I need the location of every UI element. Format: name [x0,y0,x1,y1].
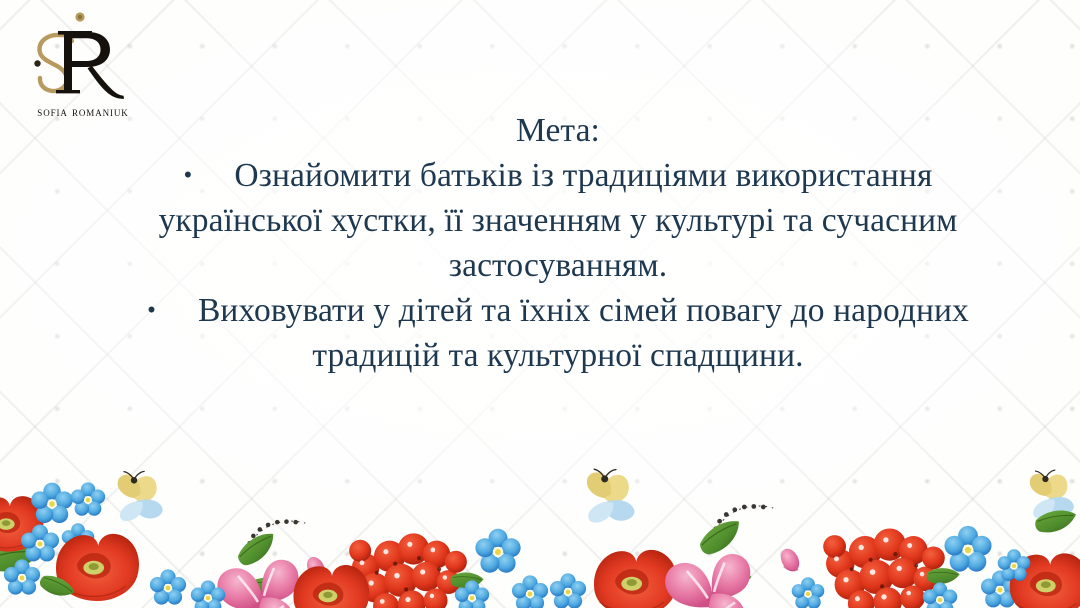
floral-group-left [0,467,186,606]
bullet-item-1: •Ознайомити батьків із традиціями викори… [108,153,1008,288]
floral-group-left-center [191,519,329,608]
bullet-text-2: Виховувати у дітей та їхніх сімей повагу… [198,292,969,374]
floral-group-berries-left [293,529,548,608]
bullet-glyph-2: • [147,297,156,324]
bullet-item-2: •Виховувати у дітей та їхніх сімей поваг… [108,288,1008,378]
slide-heading: Мета: [108,108,1008,153]
slide-text-block: Мета: •Ознайомити батьків із традиціями … [108,108,1008,378]
slide-canvas: Sofia Romaniuk Мета: •Ознайомити батьків… [0,0,1080,608]
floral-group-center [550,465,677,608]
sr-monogram-icon [8,10,158,105]
floral-group-center-right [665,504,824,608]
bullet-glyph-1: • [184,162,193,189]
floral-group-berries-right [823,526,1019,608]
floral-group-right [998,466,1080,608]
petrykivka-floral-border [0,448,1080,608]
bullet-text-1: Ознайомити батьків із традиціями викорис… [159,157,958,284]
